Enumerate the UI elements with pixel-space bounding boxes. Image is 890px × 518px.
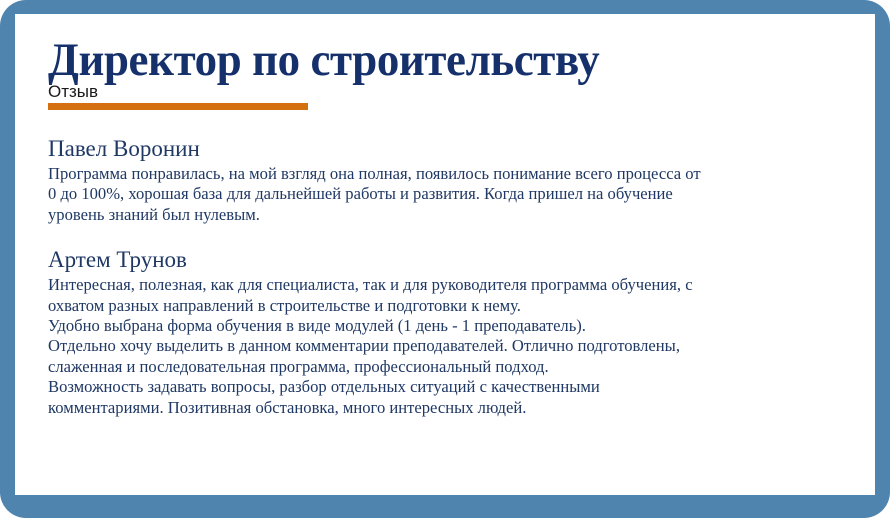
slide-frame: Директор по строительству Отзыв Павел Во… bbox=[0, 0, 890, 518]
review-text-line: комментариями. Позитивная обстановка, мн… bbox=[48, 398, 858, 418]
reviewer-name: Артем Трунов bbox=[48, 247, 858, 273]
review-item: Павел Воронин Программа понравилась, на … bbox=[48, 136, 858, 225]
accent-underline-bar bbox=[48, 103, 308, 110]
reviews-list: Павел Воронин Программа понравилась, на … bbox=[48, 136, 858, 418]
slide-content-panel: Директор по строительству Отзыв Павел Во… bbox=[15, 14, 875, 495]
review-text-line: Возможность задавать вопросы, разбор отд… bbox=[48, 377, 858, 397]
reviewer-name: Павел Воронин bbox=[48, 136, 858, 162]
review-text-line: Отдельно хочу выделить в данном коммента… bbox=[48, 336, 858, 356]
review-text-line: 0 до 100%, хорошая база для дальнейшей р… bbox=[48, 184, 858, 204]
slide-header: Директор по строительству Отзыв bbox=[48, 34, 848, 110]
review-text-line: слаженная и последовательная программа, … bbox=[48, 357, 858, 377]
review-text: Программа понравилась, на мой взгляд она… bbox=[48, 164, 858, 225]
review-item: Артем Трунов Интересная, полезная, как д… bbox=[48, 247, 858, 418]
review-text-line: охватом разных направлений в строительст… bbox=[48, 296, 858, 316]
review-text-line: Интересная, полезная, как для специалист… bbox=[48, 275, 858, 295]
review-text-line: Программа понравилась, на мой взгляд она… bbox=[48, 164, 858, 184]
page-title: Директор по строительству bbox=[48, 34, 812, 86]
review-text: Интересная, полезная, как для специалист… bbox=[48, 275, 858, 418]
review-text-line: Удобно выбрана форма обучения в виде мод… bbox=[48, 316, 858, 336]
review-text-line: уровень знаний был нулевым. bbox=[48, 205, 858, 225]
